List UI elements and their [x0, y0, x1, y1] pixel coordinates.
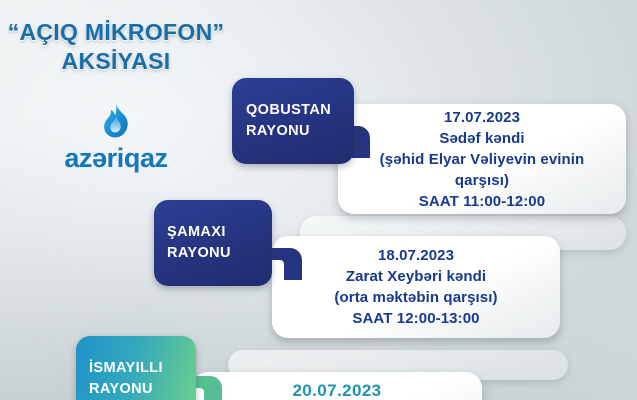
headline-line-2: AKSİYASI	[0, 47, 232, 76]
event-time-shamaxi: SAAT 12:00-13:00	[282, 308, 550, 329]
district-tab-qobustan-line-1: QOBUSTAN	[246, 100, 354, 121]
event-place-qobustan: Sədəf kəndi	[348, 128, 616, 149]
event-panel-qobustan: 17.07.2023 Sədəf kəndi (şəhid Elyar Vəli…	[338, 104, 626, 214]
district-tab-shamaxi[interactable]: ŞAMAXI RAYONU	[154, 200, 272, 286]
page-title: “AÇIQ MİKROFON” AKSİYASI	[0, 18, 232, 76]
district-tab-ismayilli-line-2: RAYONU	[89, 379, 196, 400]
brand-logo: azəriqaz	[18, 103, 214, 173]
headline-line-1: “AÇIQ MİKROFON”	[0, 18, 232, 47]
event-note-qobustan-line-2: qarşısı)	[348, 170, 616, 191]
event-date-shamaxi: 18.07.2023	[282, 245, 550, 266]
district-tab-qobustan-line-2: RAYONU	[246, 121, 354, 142]
event-date-ismayilli: 20.07.2023	[202, 380, 472, 400]
event-date-qobustan: 17.07.2023	[348, 107, 616, 128]
event-panel-shamaxi: 18.07.2023 Zarat Xeybəri kəndi (orta mək…	[272, 236, 560, 338]
district-tab-shamaxi-line-1: ŞAMAXI	[167, 222, 272, 243]
district-tab-qobustan[interactable]: QOBUSTAN RAYONU	[232, 78, 354, 164]
poster-canvas: “AÇIQ MİKROFON” AKSİYASI	[0, 0, 637, 400]
event-note-shamaxi-line-1: (orta məktəbin qarşısı)	[282, 287, 550, 308]
district-tab-ismayilli[interactable]: İSMAYILLI RAYONU	[76, 336, 196, 400]
brand-wordmark: azəriqaz	[18, 143, 214, 173]
event-place-shamaxi: Zarat Xeybəri kəndi	[282, 266, 550, 287]
district-tab-shamaxi-line-2: RAYONU	[167, 243, 272, 264]
event-time-qobustan: SAAT 11:00-12:00	[348, 191, 616, 212]
event-note-qobustan-line-1: (şəhid Elyar Vəliyevin evinin	[348, 149, 616, 170]
event-panel-ismayilli: 20.07.2023	[192, 372, 482, 400]
district-tab-ismayilli-line-1: İSMAYILLI	[89, 358, 196, 379]
gas-flame-icon	[99, 103, 133, 141]
